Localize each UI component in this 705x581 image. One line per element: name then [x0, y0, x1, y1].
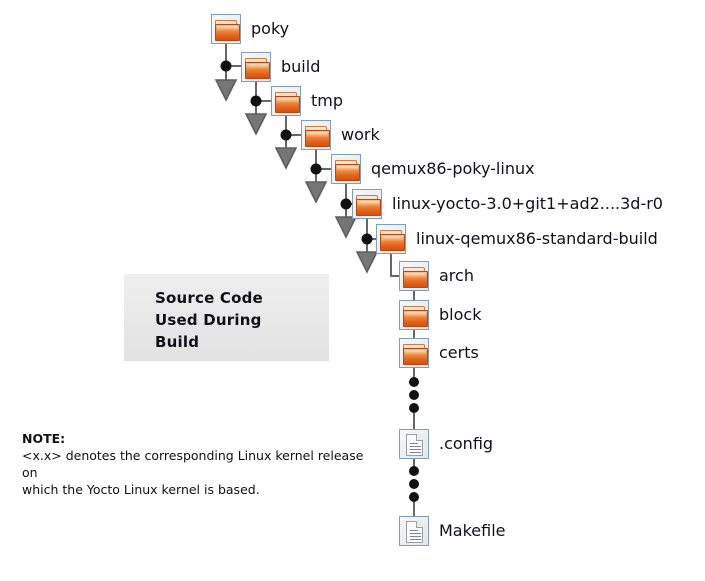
folder-icon — [399, 338, 429, 368]
node-label: certs — [439, 345, 479, 361]
callout-line-3: Build — [155, 331, 263, 353]
node-label: poky — [251, 21, 289, 37]
note-line-2: which the Yocto Linux kernel is based. — [22, 481, 382, 498]
node-label: linux-yocto-3.0+git1+ad2....3d-r0 — [392, 196, 663, 212]
node-qemux86-poky-linux[interactable]: qemux86-poky-linux — [331, 154, 535, 184]
folder-icon — [271, 86, 301, 116]
callout-line-2: Used During — [155, 309, 263, 331]
node-config-file[interactable]: .config — [399, 429, 493, 459]
node-label: block — [439, 307, 481, 323]
node-label: Makefile — [439, 523, 506, 539]
node-label: tmp — [311, 93, 343, 109]
branch-dot-build — [251, 96, 262, 107]
folder-icon — [376, 224, 406, 254]
ellipsis-dot — [409, 492, 419, 502]
branch-dot-linuxyocto — [362, 234, 373, 245]
node-build[interactable]: build — [241, 52, 320, 82]
ellipsis-dot — [409, 403, 419, 413]
node-makefile[interactable]: Makefile — [399, 516, 506, 546]
node-poky[interactable]: poky — [211, 14, 289, 44]
folder-icon — [241, 52, 271, 82]
source-code-callout: Source Code Used During Build — [124, 274, 329, 361]
branch-dot-poky — [221, 61, 232, 72]
branch-dot-qemux86 — [341, 199, 352, 210]
node-linux-yocto[interactable]: linux-yocto-3.0+git1+ad2....3d-r0 — [352, 189, 663, 219]
branch-dot-work — [311, 164, 322, 175]
folder-icon — [211, 14, 241, 44]
folder-icon — [301, 120, 331, 150]
folder-icon — [331, 154, 361, 184]
node-block[interactable]: block — [399, 300, 481, 330]
folder-icon — [399, 300, 429, 330]
ellipsis-dot — [409, 377, 419, 387]
node-arch[interactable]: arch — [399, 261, 474, 291]
node-certs[interactable]: certs — [399, 338, 479, 368]
diagram-canvas: poky build tmp work qemux86-poky-linux l… — [0, 0, 705, 581]
folder-icon — [352, 189, 382, 219]
ellipsis-dot — [409, 390, 419, 400]
node-label: work — [341, 127, 380, 143]
note-block: NOTE: <x.x> denotes the corresponding Li… — [22, 430, 382, 498]
ellipsis-dot — [409, 479, 419, 489]
branch-dot-tmp — [281, 130, 292, 141]
ellipsis-dot — [409, 466, 419, 476]
callout-line-1: Source Code — [155, 287, 263, 309]
note-heading: NOTE: — [22, 430, 382, 447]
node-label: arch — [439, 268, 474, 284]
document-icon — [399, 516, 429, 546]
node-label: .config — [439, 436, 493, 452]
node-label: build — [281, 59, 320, 75]
node-linux-qemux86-standard-build[interactable]: linux-qemux86-standard-build — [376, 224, 658, 254]
node-tmp[interactable]: tmp — [271, 86, 343, 116]
node-label: qemux86-poky-linux — [371, 161, 535, 177]
node-label: linux-qemux86-standard-build — [416, 231, 658, 247]
folder-icon — [399, 261, 429, 291]
note-line-1: <x.x> denotes the corresponding Linux ke… — [22, 447, 382, 481]
document-icon — [399, 429, 429, 459]
node-work[interactable]: work — [301, 120, 380, 150]
